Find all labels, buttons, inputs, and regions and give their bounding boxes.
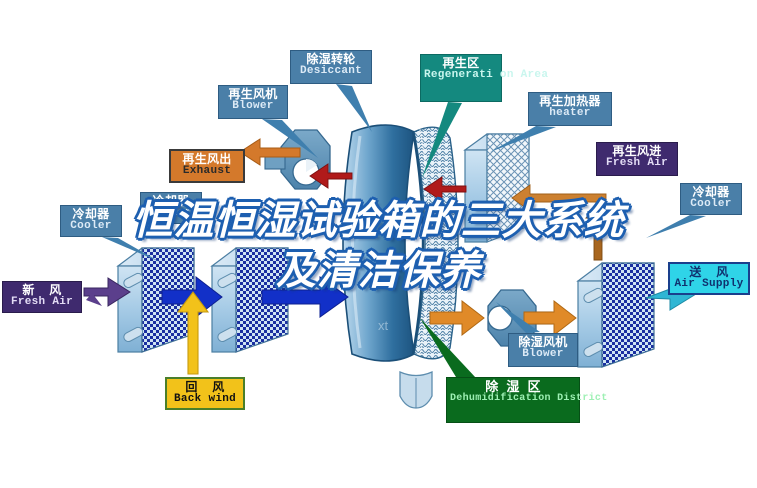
label-regen-blower-cn: 再生风机	[222, 88, 284, 101]
label-cooler-right-cn: 冷却器	[684, 186, 738, 199]
label-fresh-air: 新 风Fresh Air	[2, 281, 82, 313]
label-dehum-district-cn: 除 湿 区	[450, 380, 576, 394]
label-cooler-left-1-en: Cooler	[64, 221, 118, 233]
lead-regen-blower	[262, 119, 318, 158]
label-cooler-left-2: 冷却器Cooler	[140, 192, 202, 224]
label-back-wind: 回 风Back wind	[165, 377, 245, 410]
label-air-supply-cn: 送 风	[673, 266, 745, 279]
label-dehum-district-en: Dehumidification District	[450, 394, 576, 405]
label-dehum-blower-cn: 除湿风机	[512, 336, 574, 349]
label-regen-heater: 再生加热器heater	[528, 92, 612, 126]
lead-regen-heater	[490, 126, 556, 152]
label-dehum-blower: 除湿风机Blower	[508, 333, 578, 367]
label-regen-area-en: Regenerati on Area	[424, 70, 498, 82]
label-fresh-air-cn: 新 风	[6, 284, 78, 297]
label-cooler-right: 冷却器Cooler	[680, 183, 742, 215]
label-back-wind-cn: 回 风	[170, 381, 240, 394]
lead-desiccant	[336, 84, 372, 132]
label-regen-fresh-air: 再生风进Fresh Air	[596, 142, 678, 176]
label-air-supply: 送 风Air Supply	[668, 262, 750, 295]
label-back-wind-en: Back wind	[170, 394, 240, 406]
label-regen-heater-en: heater	[532, 108, 608, 120]
label-regen-area: 再生区Regenerati on Area	[420, 54, 502, 102]
label-fresh-air-en: Fresh Air	[6, 297, 78, 309]
label-dehum-district: 除 湿 区Dehumidification District	[446, 377, 580, 423]
lead-dehum-blower	[496, 302, 540, 333]
label-desiccant-en: Desiccant	[294, 66, 368, 78]
label-regen-area-cn: 再生区	[424, 57, 498, 70]
label-cooler-left-1: 冷却器Cooler	[60, 205, 122, 237]
label-regen-heater-cn: 再生加热器	[532, 95, 608, 108]
label-desiccant: 除湿转轮Desiccant	[290, 50, 372, 84]
label-regen-fresh-air-en: Fresh Air	[600, 158, 674, 170]
label-dehum-blower-en: Blower	[512, 349, 574, 361]
label-air-supply-en: Air Supply	[673, 279, 745, 291]
label-exhaust-cn: 再生风出	[174, 153, 240, 166]
diagram-canvas: xt	[0, 0, 757, 488]
label-cooler-left-2-cn: 冷却器	[144, 195, 198, 208]
label-regen-blower: 再生风机Blower	[218, 85, 288, 119]
label-cooler-right-en: Cooler	[684, 199, 738, 211]
lead-cooler-right	[646, 215, 706, 238]
label-regen-blower-en: Blower	[222, 101, 284, 113]
label-cooler-left-2-en: Cooler	[144, 208, 198, 220]
leader-lines	[0, 0, 757, 488]
label-regen-fresh-air-cn: 再生风进	[600, 145, 674, 158]
lead-regen-area	[422, 102, 462, 178]
label-desiccant-cn: 除湿转轮	[294, 53, 368, 66]
label-exhaust-en: Exhaust	[174, 166, 240, 178]
label-cooler-left-1-cn: 冷却器	[64, 208, 118, 221]
lead-cooler-left-1	[102, 237, 160, 262]
lead-dehum-district	[420, 318, 476, 378]
label-exhaust: 再生风出Exhaust	[169, 149, 245, 183]
